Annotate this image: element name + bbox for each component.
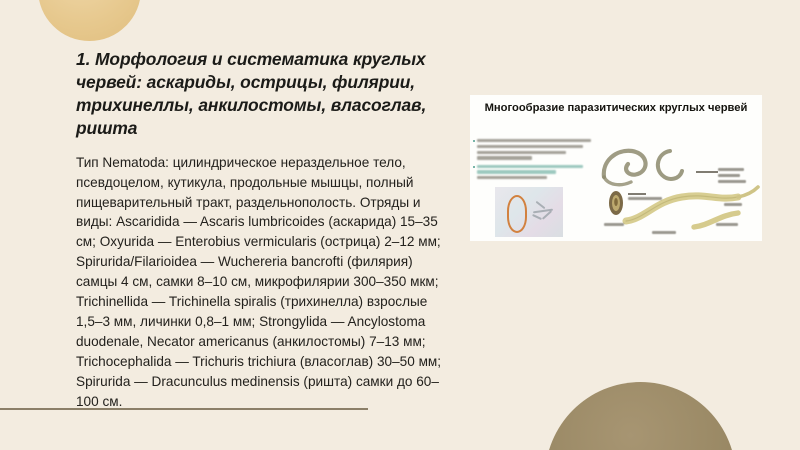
slide-canvas: 1. Морфология и систематика круглых черв… bbox=[0, 0, 800, 450]
label-leader-line bbox=[696, 171, 718, 173]
blurred-label bbox=[724, 203, 742, 206]
blurred-label bbox=[718, 168, 744, 171]
blurred-text-line bbox=[477, 176, 547, 179]
blurred-text-line-highlight bbox=[477, 170, 556, 173]
slide-body-text: Тип Nematoda: цилиндрическое нераздельно… bbox=[76, 153, 448, 413]
inset-specimen-shape bbox=[531, 200, 555, 224]
blurred-label bbox=[718, 180, 746, 183]
blurred-label bbox=[604, 223, 624, 226]
blurred-label bbox=[628, 197, 662, 200]
bullet-dot-icon bbox=[473, 140, 475, 142]
blurred-text-line bbox=[477, 139, 591, 142]
text-column: 1. Морфология и систематика круглых черв… bbox=[76, 48, 448, 412]
figure-inset-photo bbox=[495, 187, 563, 237]
blurred-text-line bbox=[477, 151, 566, 154]
figure-worm-illustrations bbox=[598, 135, 760, 239]
figure-bullet-text-block bbox=[477, 139, 597, 182]
decorative-circle-bottom bbox=[545, 382, 736, 450]
decorative-circle-top bbox=[38, 0, 141, 41]
blurred-label bbox=[652, 231, 676, 234]
blurred-text-line bbox=[477, 156, 532, 159]
blurred-label bbox=[718, 174, 740, 177]
worm-loop-shape bbox=[507, 195, 527, 233]
label-leader-line bbox=[628, 193, 646, 195]
bullet-dot-icon bbox=[473, 166, 475, 168]
blurred-text-line-highlight bbox=[477, 165, 583, 168]
slide-title: 1. Морфология и систематика круглых черв… bbox=[76, 48, 448, 141]
footer-divider bbox=[0, 408, 368, 410]
figure-title: Многообразие паразитических круглых черв… bbox=[470, 102, 762, 116]
figure-card: Многообразие паразитических круглых черв… bbox=[470, 95, 762, 241]
blurred-text-line bbox=[477, 145, 583, 148]
blurred-label bbox=[716, 223, 738, 226]
